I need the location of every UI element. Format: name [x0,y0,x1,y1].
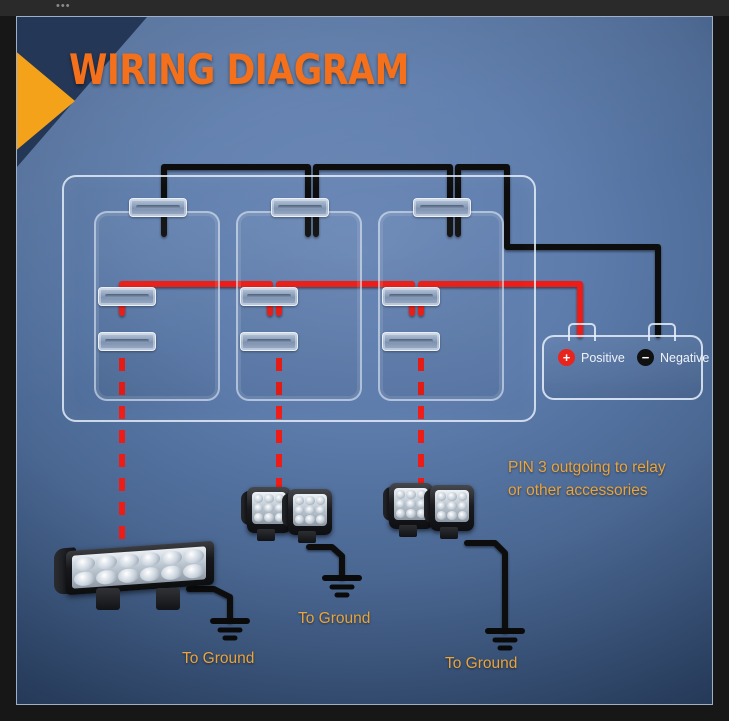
battery: + Positive − Negative [542,335,703,400]
light-bar-bracket-right [156,588,180,610]
switch-1-terminal-top[interactable] [129,198,187,217]
cube-pod-lens [252,492,286,524]
ground-symbol-pods-right [488,631,522,648]
switch-2-terminal-top[interactable] [271,198,329,217]
minus-icon: − [637,349,654,366]
ground-wire-pods-right [467,543,505,630]
switch-2-terminal-bottom[interactable] [240,332,298,351]
diagram-stage: ••• WIRING DIAGRAM [0,0,729,721]
ground-symbol-pods-left [325,578,359,595]
battery-positive-label: Positive [581,351,625,365]
pin3-note-line2: or other accessories [508,479,713,502]
battery-negative: − Negative [637,349,709,366]
led-light-bar [38,536,228,616]
switch-3-terminal-top[interactable] [413,198,471,217]
cube-pod-left-b [284,485,334,541]
window-dots: ••• [56,1,86,11]
switch-3-terminal-middle[interactable] [382,287,440,306]
light-bar-bracket-left [96,588,120,610]
cube-pod-lens [435,490,469,522]
ground-label-pods-left: To Ground [298,610,370,628]
switch-1-terminal-middle[interactable] [98,287,156,306]
plus-icon: + [558,349,575,366]
switch-2-terminal-middle[interactable] [240,287,298,306]
cube-pod-lens [394,488,428,520]
cube-pod-right-b [426,481,476,537]
pin3-note: PIN 3 outgoing to relay or other accesso… [508,456,713,503]
ground-label-lightbar: To Ground [182,650,254,668]
switch-1[interactable] [94,211,220,401]
diagram-canvas: WIRING DIAGRAM [16,16,713,705]
window-title-strip: ••• [0,0,729,16]
ground-symbol-lightbar [213,621,247,638]
battery-positive-post [568,323,596,341]
cube-pod-lens [293,494,327,526]
pin3-note-line1: PIN 3 outgoing to relay [508,456,713,479]
switch-3[interactable] [378,211,504,401]
switch-panel [62,175,536,422]
battery-positive: + Positive [558,349,625,366]
switch-3-terminal-bottom[interactable] [382,332,440,351]
ground-label-pods-right: To Ground [445,655,517,673]
battery-negative-post [648,323,676,341]
ground-wire-pods-left [309,547,342,577]
battery-negative-label: Negative [660,351,709,365]
switch-2[interactable] [236,211,362,401]
switch-1-terminal-bottom[interactable] [98,332,156,351]
